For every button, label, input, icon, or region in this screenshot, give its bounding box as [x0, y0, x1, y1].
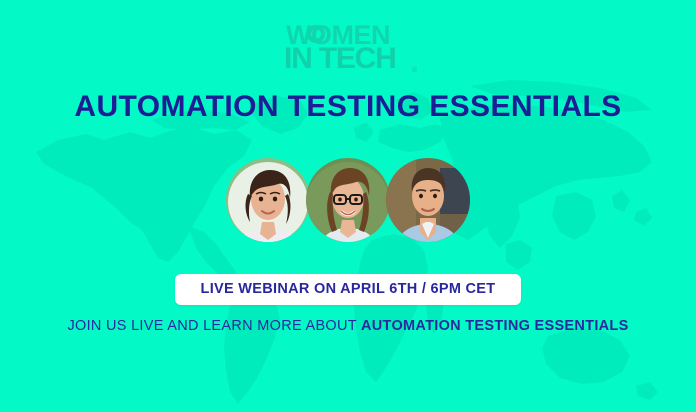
footer-lead-text: JOIN US LIVE AND LEARN MORE ABOUT: [67, 318, 361, 334]
women-in-tech-logo: WOMEN in tech ®: [284, 22, 412, 76]
footer-strong-text: AUTOMATION TESTING ESSENTIALS: [361, 318, 629, 334]
avatar: [306, 158, 390, 242]
page-title: AUTOMATION TESTING ESSENTIALS: [0, 90, 696, 123]
avatar: [226, 158, 310, 242]
webinar-datetime-badge: LIVE WEBINAR ON APRIL 6TH / 6PM CET: [175, 274, 522, 305]
logo-ring-icon: [307, 25, 325, 43]
avatar: [386, 158, 470, 242]
logo-container: WOMEN in tech ®: [0, 22, 696, 76]
webinar-promo-banner: WOMEN in tech ® AUTOMATION TESTING ESSEN…: [0, 0, 696, 412]
webinar-datetime-container: LIVE WEBINAR ON APRIL 6TH / 6PM CET: [0, 274, 696, 305]
trademark-symbol: ®: [412, 67, 417, 74]
speaker-avatars: [0, 158, 696, 242]
logo-line-intech: in tech: [284, 44, 412, 74]
footer-tagline: JOIN US LIVE AND LEARN MORE ABOUT AUTOMA…: [0, 318, 696, 334]
